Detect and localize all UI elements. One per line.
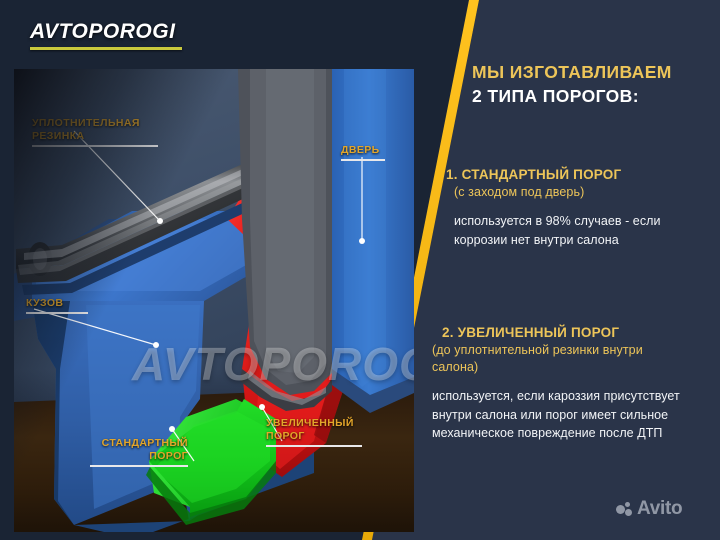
right-heading-white: 2 ТИПА ПОРОГОВ:: [472, 84, 712, 108]
section-enlarged-title: 2. УВЕЛИЧЕННЫЙ ПОРОГ: [432, 324, 682, 342]
section-enlarged: 2. УВЕЛИЧЕННЫЙ ПОРОГ (до уплотнительной …: [432, 324, 682, 443]
diagram-panel: AVTOPOROGI УПЛОТНИТЕЛЬНАЯ РЕЗИНКА КУЗОВ …: [14, 69, 414, 532]
brand-logo-underline: [30, 47, 182, 50]
section-standard-subtitle: (с заходом под дверь): [446, 184, 696, 201]
section-standard: 1. СТАНДАРТНЫЙ ПОРОГ (с заходом под двер…: [446, 166, 696, 249]
section-enlarged-subtitle: (до уплотнительной резинки внутри салона…: [432, 342, 682, 376]
brand-logo-text: AVTOPOROGI: [30, 20, 182, 44]
section-enlarged-body: используется, если кароззия присутствует…: [432, 387, 682, 443]
right-heading-gold: МЫ ИЗГОТАВЛИВАЕМ: [472, 60, 712, 84]
avito-watermark: Avito: [616, 498, 682, 520]
panel-vignette: [14, 69, 414, 532]
section-standard-body: используется в 98% случаев - если корроз…: [446, 212, 696, 249]
section-standard-title: 1. СТАНДАРТНЫЙ ПОРОГ: [446, 166, 696, 184]
avito-dots-icon: [616, 502, 633, 517]
poster-root: AVTOPOROGI: [0, 0, 720, 540]
right-heading: МЫ ИЗГОТАВЛИВАЕМ 2 ТИПА ПОРОГОВ:: [472, 60, 712, 108]
avito-wordmark: Avito: [637, 498, 682, 520]
brand-logo: AVTOPOROGI: [30, 20, 182, 50]
